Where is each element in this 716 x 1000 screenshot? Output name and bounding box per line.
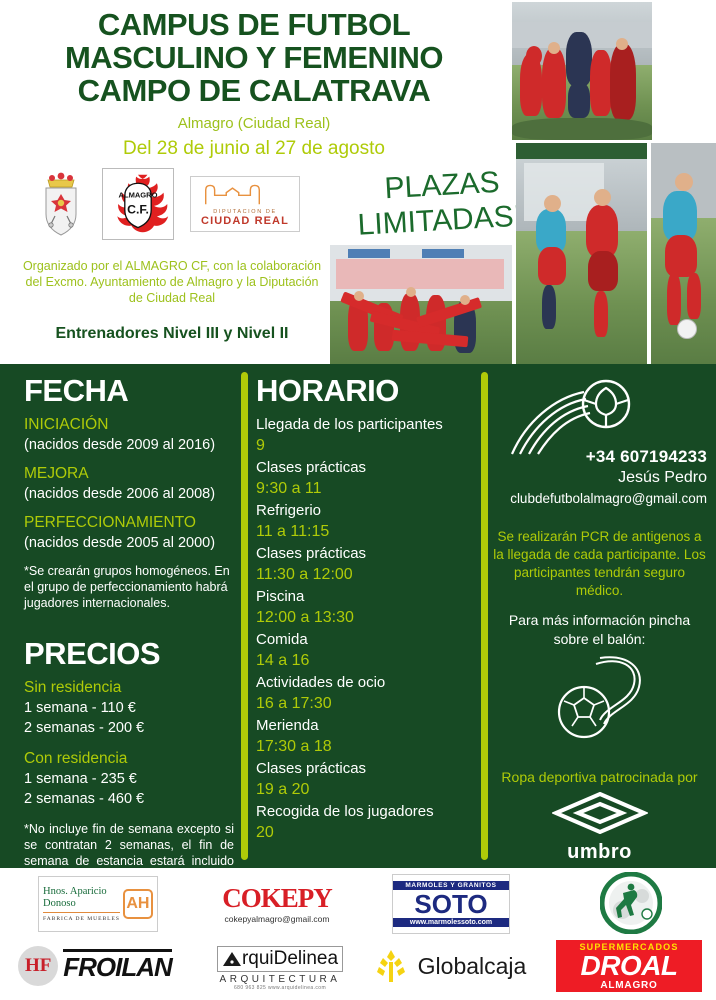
photo-team-huddle (512, 2, 652, 140)
schedule-activity: Comida (256, 629, 471, 650)
diputacion-building-icon (198, 181, 292, 206)
schedule-time: 12:00 a 13:30 (256, 607, 471, 629)
schedule-time: 16 a 17:30 (256, 693, 471, 715)
photo-player-with-ball (651, 143, 716, 364)
fecha-title: FECHA (24, 374, 234, 408)
schedule-time: 9:30 a 11 (256, 478, 471, 500)
price-con-residencia-2-semanas: 2 semanas - 460 € (24, 789, 234, 809)
aparicio-line-2: Donoso (43, 898, 120, 910)
droal-location: ALMAGRO (600, 980, 657, 991)
organizer-logos: ALMAGRO C.F. DIPUTACION DE CIUDAD REAL (36, 168, 300, 240)
sponsor-droal: SUPERMERCADOS DROAL ALMAGRO (556, 940, 702, 992)
more-info-text: Para más información pincha sobre el bal… (492, 611, 707, 649)
sponsor-soto: MARMOLES Y GRANITOS SOTO www.marmolessot… (392, 874, 510, 934)
title-line-2: MASCULINO Y FEMENINO (0, 41, 508, 74)
schedule-activity: Clases prácticas (256, 457, 471, 478)
top-header-section: CAMPUS DE FUTBOL MASCULINO Y FEMENINO CA… (0, 0, 716, 364)
group-label-mejora: MEJORA (24, 463, 234, 484)
group-label-iniciacion: INICIACIÓN (24, 414, 234, 435)
subtitle-dates: Del 28 de junio al 27 de agosto (0, 137, 508, 161)
diputacion-ciudad-real-logo: DIPUTACION DE CIUDAD REAL (190, 176, 300, 232)
cokepy-wordmark: COKEPY (222, 884, 332, 912)
schedule-time: 19 a 20 (256, 779, 471, 801)
froilan-wordmark: FROILAN (63, 949, 172, 983)
organizer-description: Organizado por el ALMAGRO CF, con la col… (22, 258, 322, 306)
trainers-level-text: Entrenadores Nivel III y Nivel II (22, 325, 322, 343)
globalcaja-wordmark: Globalcaja (418, 953, 527, 980)
schedule-activity: Piscina (256, 586, 471, 607)
schedule-activity: Llegada de los participantes (256, 414, 471, 435)
contact-person: Jesús Pedro (492, 469, 707, 487)
schedule-time: 17:30 a 18 (256, 736, 471, 758)
schedule-activity: Actividades de ocio (256, 672, 471, 693)
horario-column: HORARIO Llegada de los participantes 9 C… (256, 364, 471, 844)
title-line-1: CAMPUS DE FUTBOL (0, 8, 508, 41)
umbro-diamond-icon (552, 792, 648, 834)
sponsor-aparicio-donoso: Hnos. Aparicio Donoso FABRICA DE MUEBLES… (38, 876, 158, 932)
contact-email[interactable]: clubdefutbolalmagro@gmail.com (492, 491, 707, 506)
horario-title: HORARIO (256, 374, 471, 408)
schedule-time: 14 a 16 (256, 650, 471, 672)
arquidelinea-wordmark: rquiDelinea (242, 948, 338, 970)
schedule-time: 9 (256, 435, 471, 457)
froilan-mark-icon: HF (18, 946, 58, 986)
price-sin-residencia-1-semana: 1 semana - 110 € (24, 698, 234, 718)
crest-club-name: ALMAGRO (119, 190, 158, 199)
schedule-time: 20 (256, 822, 471, 844)
photo-training-duel (516, 143, 647, 364)
contact-phone[interactable]: +34 607194233 (492, 447, 707, 467)
crest-cf-label: C.F. (127, 202, 149, 216)
almagro-coat-of-arms-icon (36, 168, 86, 240)
droal-wordmark: DROAL (580, 952, 677, 980)
schedule-activity: Merienda (256, 715, 471, 736)
fecha-precios-column: FECHA INICIACIÓN (nacidos desde 2009 al … (24, 364, 234, 885)
sponsor-football-badge (600, 872, 662, 934)
cokepy-email: cokepyalmagro@gmail.com (224, 914, 329, 924)
group-value-iniciacion: (nacidos desde 2009 al 2016) (24, 435, 234, 455)
group-label-perfeccionamiento: PERFECCIONAMIENTO (24, 512, 234, 533)
arquidelinea-contact: 680 963 825 www.arquidelinea.com (234, 985, 326, 991)
sponsor-arquidelinea: rquiDelinea ARQUITECTURA 680 963 825 www… (200, 944, 360, 992)
sponsors-footer: Hnos. Aparicio Donoso FABRICA DE MUEBLES… (0, 868, 716, 1000)
group-value-mejora: (nacidos desde 2006 al 2008) (24, 484, 234, 504)
schedule-time: 11:30 a 12:00 (256, 564, 471, 586)
pcr-health-note: Se realizarán PCR de antigenos a la lleg… (492, 528, 707, 600)
arquidelinea-roof-icon (222, 949, 242, 969)
fecha-note: *Se crearán grupos homogéneos. En el gru… (24, 563, 234, 611)
arquidelinea-sub: ARQUITECTURA (220, 974, 341, 985)
football-badge-icon (600, 872, 662, 934)
schedule-activity: Clases prácticas (256, 758, 471, 779)
almagro-cf-crest-icon: ALMAGRO C.F. (102, 168, 174, 240)
schedule-activity: Refrigerio (256, 500, 471, 521)
schedule-activity: Clases prácticas (256, 543, 471, 564)
globalcaja-wheat-icon (370, 946, 412, 986)
price-label-sin-residencia: Sin residencia (24, 677, 234, 698)
precios-title: PRECIOS (24, 637, 234, 671)
info-panel: FECHA INICIACIÓN (nacidos desde 2009 al … (0, 364, 716, 868)
schedule-list: Llegada de los participantes 9 Clases pr… (256, 414, 471, 844)
diputacion-main-label: CIUDAD REAL (201, 215, 289, 227)
price-con-residencia-1-semana: 1 semana - 235 € (24, 769, 234, 789)
umbro-logo: umbro (492, 792, 707, 864)
column-divider-1 (241, 372, 248, 860)
column-divider-2 (481, 372, 488, 860)
page-title: CAMPUS DE FUTBOL MASCULINO Y FEMENINO CA… (0, 8, 508, 161)
subtitle-city: Almagro (Ciudad Real) (0, 114, 508, 134)
price-sin-residencia-2-semanas: 2 semanas - 200 € (24, 718, 234, 738)
football-link-button[interactable] (544, 654, 654, 744)
sponsor-globalcaja: Globalcaja (368, 944, 528, 988)
sponsor-cokepy: COKEPY cokepyalmagro@gmail.com (202, 876, 352, 932)
soto-url: www.marmolessoto.com (393, 918, 509, 927)
group-value-perfeccionamiento: (nacidos desde 2005 al 2000) (24, 533, 234, 553)
photo-team-scarves (330, 245, 512, 364)
aparicio-mark-icon: AH (123, 889, 153, 919)
sponsor-froilan: HF FROILAN (10, 944, 180, 988)
soto-wordmark: SOTO (414, 890, 487, 918)
umbro-wordmark: umbro (492, 841, 707, 864)
title-line-3: CAMPO DE CALATRAVA (0, 74, 508, 107)
apparel-sponsor-label: Ropa deportiva patrocinada por (492, 769, 707, 785)
limited-places-banner: PLAZAS LIMITADAS!! (346, 163, 540, 243)
aparicio-line-1: Hnos. Aparicio (43, 886, 120, 898)
price-label-con-residencia: Con residencia (24, 748, 234, 769)
aparicio-sub: FABRICA DE MUEBLES (43, 912, 120, 923)
schedule-time: 11 a 11:15 (256, 521, 471, 543)
schedule-activity: Recogida de los jugadores (256, 801, 471, 822)
